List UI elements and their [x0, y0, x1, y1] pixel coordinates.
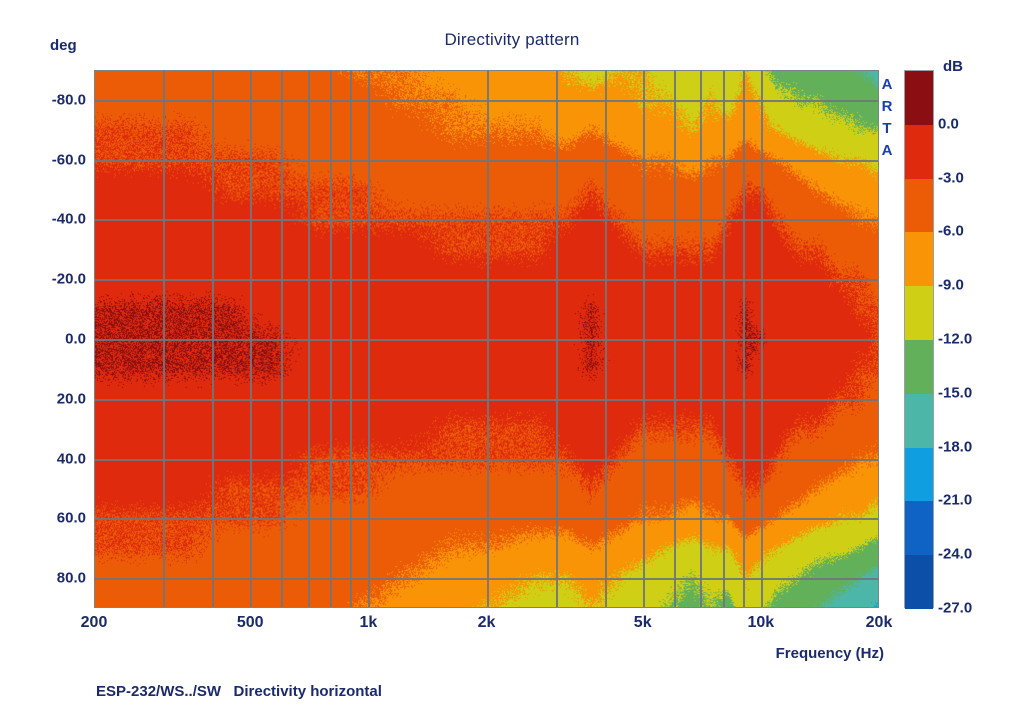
y-axis-tick [94, 219, 95, 221]
y-axis-tick-label: 40.0 [28, 450, 86, 467]
x-axis-tick [281, 607, 283, 608]
x-axis-tick [163, 607, 165, 608]
watermark-letter: T [876, 118, 898, 140]
y-axis-tick-label: -80.0 [28, 91, 86, 108]
watermark-letter: A [876, 140, 898, 162]
y-axis-labels: -80.0-60.0-40.0-20.00.020.040.060.080.0 [20, 70, 86, 608]
colorbar-tick-label: -6.0 [938, 223, 964, 240]
x-axis-tick-label: 500 [237, 614, 264, 632]
footer-caption: ESP-232/WS../SW Directivity horizontal [96, 683, 382, 700]
y-axis-tick [94, 459, 95, 461]
colorbar-tick-label: -15.0 [938, 384, 972, 401]
y-axis-tick-label: -20.0 [28, 271, 86, 288]
heatmap-image [95, 71, 878, 607]
x-axis-tick [700, 607, 702, 608]
x-axis-tick [330, 607, 332, 608]
x-axis-tick [212, 607, 214, 608]
x-axis-tick-label: 2k [478, 614, 496, 632]
colorbar-band [905, 232, 933, 286]
y-axis-tick-label: -60.0 [28, 151, 86, 168]
y-axis-tick [94, 399, 95, 401]
colorbar-band [905, 179, 933, 233]
x-axis-tick [743, 607, 745, 608]
colorbar-tick-labels: 0.0-3.0-6.0-9.0-12.0-15.0-18.0-21.0-24.0… [938, 70, 1018, 608]
y-axis-tick-label: 0.0 [28, 331, 86, 348]
x-axis-tick [556, 607, 558, 608]
x-axis-tick [723, 607, 725, 608]
x-axis-tick [308, 607, 310, 608]
colorbar-tick-label: -24.0 [938, 546, 972, 563]
colorbar-tick-label: -21.0 [938, 492, 972, 509]
arta-watermark: ARTA [876, 74, 898, 162]
x-axis-tick-label: 20k [866, 614, 893, 632]
colorbar-band [905, 394, 933, 448]
x-axis-tick [487, 607, 489, 608]
colorbar-tick-label: 0.0 [938, 115, 959, 132]
colorbar-tick-label: -12.0 [938, 331, 972, 348]
colorbar-tick-label: -9.0 [938, 277, 964, 294]
x-axis-tick [605, 607, 607, 608]
y-axis-unit-label: deg [50, 37, 77, 54]
colorbar-band [905, 555, 933, 609]
colorbar-band [905, 501, 933, 555]
y-axis-tick-label: 80.0 [28, 570, 86, 587]
x-axis-tick-label: 10k [747, 614, 774, 632]
x-axis-tick [94, 607, 96, 608]
x-axis-labels: 2005001k2k5k10k20k [94, 614, 879, 642]
colorbar-band [905, 71, 933, 125]
x-axis-tick-label: 1k [359, 614, 377, 632]
y-axis-tick [94, 518, 95, 520]
page-title: Directivity pattern [0, 30, 1024, 50]
colorbar-band [905, 340, 933, 394]
watermark-letter: A [876, 74, 898, 96]
colorbar-tick-label: -3.0 [938, 169, 964, 186]
colorbar-tick-label: -18.0 [938, 438, 972, 455]
x-axis-tick [761, 607, 763, 608]
colorbar-band [905, 125, 933, 179]
colorbar-tick-label: -27.0 [938, 600, 972, 617]
x-axis-tick-label: 200 [81, 614, 108, 632]
x-axis-tick [350, 607, 352, 608]
colorbar[interactable] [904, 70, 934, 608]
x-axis-tick [250, 607, 252, 608]
y-axis-tick [94, 160, 95, 162]
colorbar-band [905, 448, 933, 502]
x-axis-tick [674, 607, 676, 608]
colorbar-band [905, 286, 933, 340]
y-axis-tick [94, 578, 95, 580]
y-axis-tick-label: -40.0 [28, 211, 86, 228]
heatmap-plot-area[interactable] [94, 70, 879, 608]
x-axis-tick-label: 5k [634, 614, 652, 632]
y-axis-tick [94, 339, 95, 341]
y-axis-tick [94, 100, 95, 102]
x-axis-tick [643, 607, 645, 608]
watermark-letter: R [876, 96, 898, 118]
x-axis-tick [368, 607, 370, 608]
chart-root: Directivity pattern deg dB -80.0-60.0-40… [0, 0, 1024, 715]
y-axis-tick-label: 20.0 [28, 390, 86, 407]
y-axis-tick-label: 60.0 [28, 510, 86, 527]
y-axis-tick [94, 279, 95, 281]
x-axis-title: Frequency (Hz) [0, 645, 884, 662]
heatmap-canvas-wrapper [95, 71, 878, 607]
